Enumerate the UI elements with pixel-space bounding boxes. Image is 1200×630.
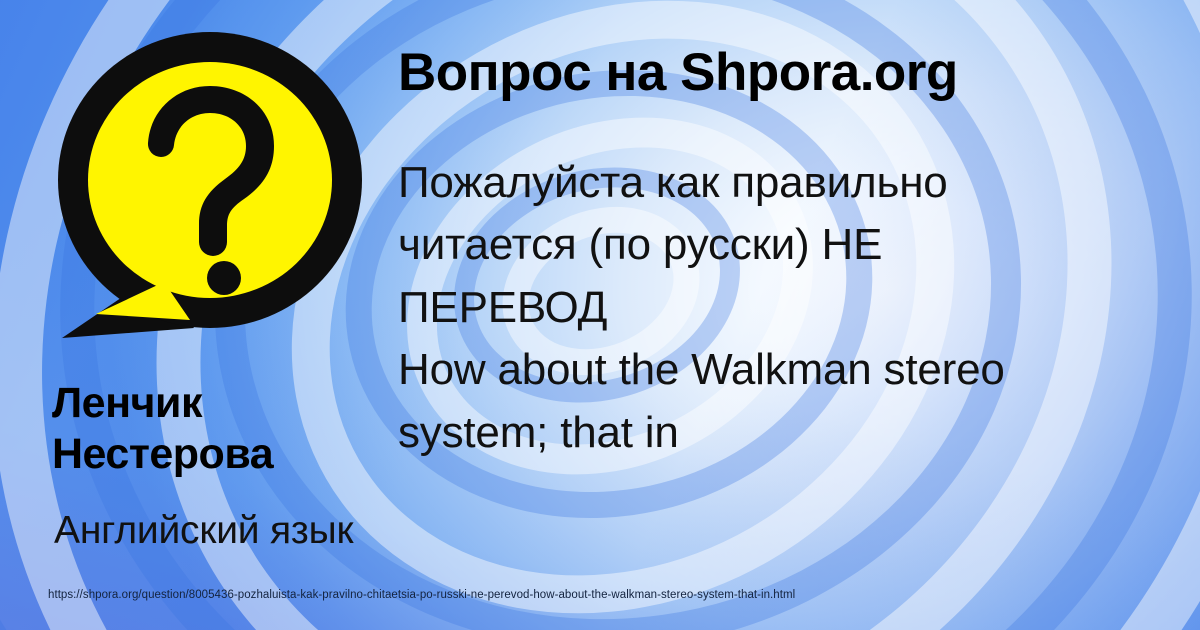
question-line: system; that in [398,402,1198,464]
question-line: читается (по русски) НЕ [398,214,1198,276]
author-name: Ленчик Нестерова [52,378,402,479]
author-name-line: Ленчик [52,378,402,429]
subject-label: Английский язык [54,508,353,555]
question-line: Пожалуйста как правильно [398,152,1198,214]
question-speech-bubble-icon [44,28,374,364]
question-line: How about the Walkman stereo [398,339,1198,401]
question-text: Пожалуйста как правильно читается (по ру… [398,152,1198,464]
author-name-line: Нестерова [52,429,402,480]
source-url: https://shpora.org/question/8005436-pozh… [48,589,795,601]
question-line: ПЕРЕВОД [398,277,1198,339]
question-share-card: Вопрос на Shpora.org Пожалуйста как прав… [0,0,1200,630]
page-title: Вопрос на Shpora.org [398,44,1188,101]
